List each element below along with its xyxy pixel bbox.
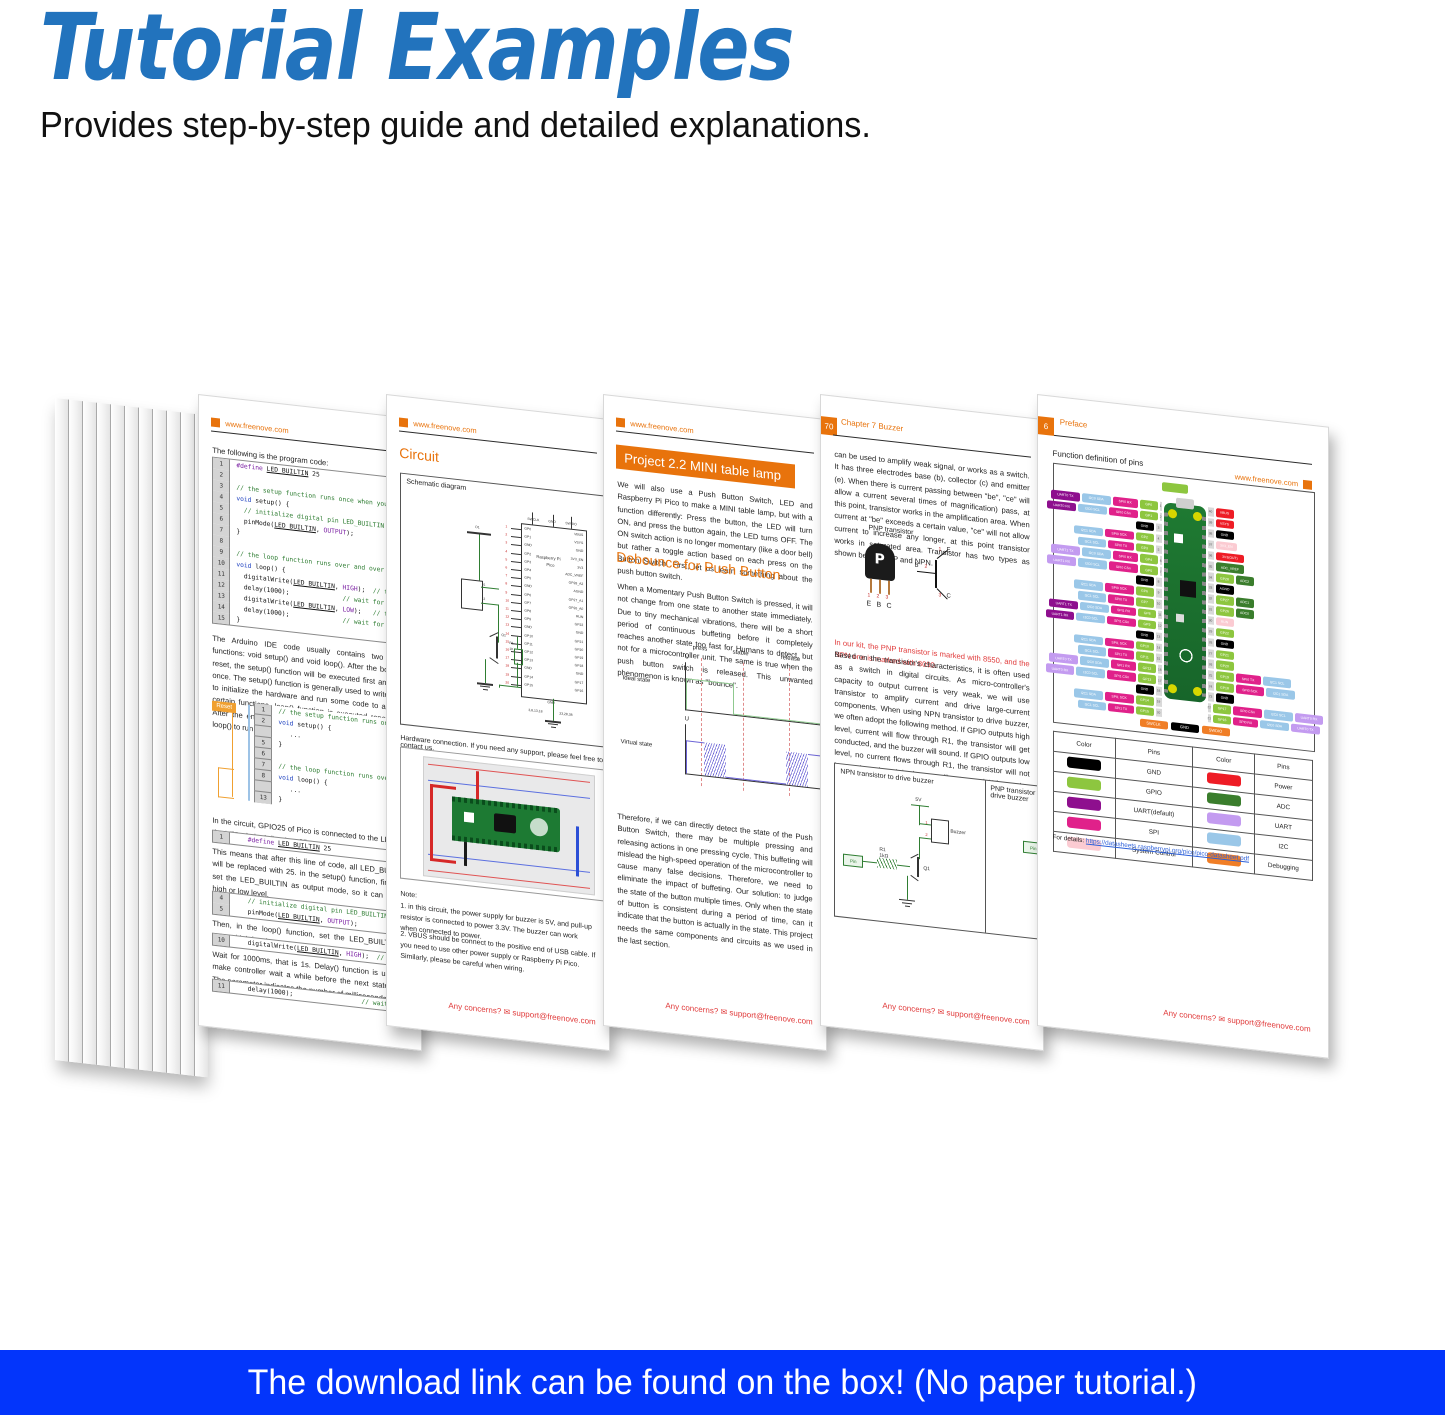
pin-tag: UART0 RX xyxy=(1295,713,1324,725)
chip-pin-number: 11 xyxy=(505,606,509,610)
note-title: Note: xyxy=(400,889,417,902)
pin-tag: I2C0 SCL xyxy=(1264,709,1293,721)
color-swatch xyxy=(1067,796,1101,811)
pin-tag: I2C1 SDA xyxy=(1074,634,1103,646)
chip-pin-number: 2 xyxy=(505,533,507,537)
pin-tag: UART0 TX xyxy=(1291,723,1320,735)
pin-tag: I2C1 SCL xyxy=(1263,677,1292,689)
pin-tag: I2C1 SCL xyxy=(1078,591,1107,603)
pin-tag: GND xyxy=(1216,693,1234,704)
pin-index: 12 xyxy=(1158,621,1162,630)
chip-pin-label: GND xyxy=(524,584,532,589)
pin-tag: SPI0 RX xyxy=(1113,551,1138,562)
chip-pin-number: 5 xyxy=(505,557,507,561)
pin-tag: GND xyxy=(1136,575,1154,586)
pin-index: 33 xyxy=(1208,583,1214,592)
chip-pin-number: 12 xyxy=(505,615,509,619)
pin-tag: GP3 xyxy=(1136,543,1154,554)
chart-label-release: release xyxy=(781,655,801,663)
chip-pin-number: 7 xyxy=(505,574,507,578)
pin-index: 30 xyxy=(1208,616,1214,625)
chip-pin-label: GP7 xyxy=(524,600,531,605)
chip-pin-label: GP11 xyxy=(524,641,532,646)
chip-pin-number: 6 xyxy=(505,565,507,569)
pin-tag: I2C1 SCL xyxy=(1078,699,1107,711)
pin-tag: I2C0 SDA xyxy=(1080,602,1109,614)
chip-pin-number: 20 xyxy=(505,680,509,684)
pin-tag: UART0 TX xyxy=(1049,653,1078,665)
color-swatch xyxy=(1207,772,1241,787)
schematic-caption: Schematic diagram xyxy=(406,478,466,492)
chip-pin-number: 9 xyxy=(505,590,507,594)
pin-tag: SPI0 CSn xyxy=(1109,561,1138,573)
pin-tag: I2C0 SDA xyxy=(1080,656,1109,668)
pin-tag: GP7 xyxy=(1136,597,1154,608)
pin-index: 8 xyxy=(1156,578,1162,587)
chip-pin-stub xyxy=(511,585,521,587)
pinout-left-labels: UART0 TXI2C0 SDASPI0 RXGP01UART0 RXI2C0 … xyxy=(1058,490,1162,719)
pin-index: 25 xyxy=(1208,670,1214,679)
pin-tag: SPI0 SCK xyxy=(1236,685,1265,697)
pin-tag: UART1 RX xyxy=(1046,609,1075,621)
project-intro: We will also use a Push Button Switch, L… xyxy=(617,479,812,599)
pin-tag: SPI0 CSn xyxy=(1233,706,1262,718)
pin-tag: SPI1 SCK xyxy=(1105,692,1134,704)
chip-pin-label: GP12 xyxy=(524,650,533,655)
chip-pin-number: 19 xyxy=(505,672,509,676)
chip-pin-label: GP0 xyxy=(524,527,531,532)
pin-tag: RUN xyxy=(1216,617,1234,628)
debounce-conclusion: Therefore, if we can directly detect the… xyxy=(617,811,812,968)
debug-tag-swdio-bottom: SWDIO xyxy=(1202,725,1230,737)
pin-tag: SPI0 CSn xyxy=(1109,507,1138,519)
flow-diagram: Reset 1// the setup function runs once w… xyxy=(212,697,407,827)
pin-tag: SPI0 TX xyxy=(1236,674,1261,685)
pin-tag: I2C0 SCL xyxy=(1078,504,1107,516)
pin-tag: GND xyxy=(1136,521,1154,532)
page-header: www.freenove.com xyxy=(399,412,597,452)
pin-tag: GP0 xyxy=(1140,500,1158,511)
transistor-label: Q1 xyxy=(923,866,930,873)
pin-tag: UART1 TX xyxy=(1051,544,1080,556)
chart-label-stable: stable xyxy=(733,650,749,658)
debounce-waveform-chart: press stable release U Ideal state U Vir… xyxy=(671,643,818,809)
pin-tag: SPI1 RX xyxy=(1111,605,1136,616)
buzzer-circuit-table: NPN transistor to drive buzzer PNP trans… xyxy=(834,763,1044,942)
pin-tag: I2C1 SCL xyxy=(1078,536,1107,548)
pin-index: 7 xyxy=(1160,567,1162,576)
pin-tag: GP28 xyxy=(1216,573,1234,584)
pin-tag: SPI1 CSn xyxy=(1107,616,1136,628)
color-swatch xyxy=(1067,776,1101,791)
pin-index: 1 xyxy=(1160,502,1162,511)
chip-pin-label: GP4 xyxy=(524,568,531,573)
chip-pin-stub xyxy=(511,626,521,628)
pin-index: 28 xyxy=(1208,638,1214,647)
pin-index: 10 xyxy=(1156,599,1162,608)
pin-tag: GP2 xyxy=(1136,532,1154,543)
pin-index: 20 xyxy=(1156,708,1162,717)
pico-board-illustration xyxy=(1164,502,1206,703)
pin-tag: GP5 xyxy=(1140,565,1158,576)
transistor-figure: PNP transistor P 1 2 3 E B C 1 E B 2 3 C xyxy=(857,523,1017,651)
debug-tag-swclk-bottom: SWCLK xyxy=(1140,718,1168,730)
page-header: www.freenove.com xyxy=(211,412,409,452)
color-swatch xyxy=(1207,792,1241,807)
header-section: Tutorial Examples Provides step-by-step … xyxy=(0,0,1445,180)
pin-tag: UART0 RX xyxy=(1046,663,1075,675)
chip-pin-number: 8 xyxy=(505,582,507,586)
pin-index: 40 xyxy=(1208,507,1214,516)
chip-pin-label: GP13 xyxy=(524,658,533,663)
color-swatch xyxy=(1067,756,1101,771)
pin-tag: SPI0 SCK xyxy=(1105,528,1134,540)
breadboard xyxy=(423,756,595,895)
chip-pin-label: GP15 xyxy=(524,682,533,687)
pin-tag: I2C1 SDA xyxy=(1074,525,1103,537)
pin-index: 26 xyxy=(1208,660,1214,669)
pin-tag: UART0 RX xyxy=(1047,500,1076,512)
pin-tag: GP6 xyxy=(1136,586,1154,597)
chip-pin-label: GP9 xyxy=(524,617,531,622)
pin-tag: I2C0 SCL xyxy=(1078,558,1107,570)
pin-tag: I2C1 SDA xyxy=(1074,579,1103,591)
chip-pin-label: GP5 xyxy=(524,576,531,581)
chapter-label: Chapter 7 Buzzer xyxy=(841,417,903,433)
page-footer: Any concerns? ✉ support@freenove.com xyxy=(1163,1008,1310,1034)
pin-tag: GP18 xyxy=(1216,682,1234,693)
pin-tag: GP9 xyxy=(1138,619,1156,630)
chip-pin-number: 18 xyxy=(505,664,509,668)
chip-pin-label: GP1 xyxy=(524,535,531,540)
pin-index: 4 xyxy=(1156,534,1162,543)
chip-pin-label: GP14 xyxy=(524,674,533,679)
debug-tag-swclk xyxy=(1162,482,1188,493)
chip-pin-label: GND xyxy=(524,666,532,671)
tutorial-page-project[interactable]: www.freenove.com Project 2.2 MINI table … xyxy=(603,394,827,1051)
pin-tag: SPI0 TX xyxy=(1108,594,1133,605)
pin-index: 19 xyxy=(1156,697,1162,706)
pin-tag: ADC1 xyxy=(1236,597,1254,608)
pin-tag: AGND xyxy=(1216,584,1234,595)
pin-tag: GP20 xyxy=(1216,660,1234,671)
axis-label-u-ideal: U xyxy=(685,654,689,660)
pin-tag: UART1 TX xyxy=(1049,598,1078,610)
pin-index: 36 xyxy=(1208,551,1214,560)
chip-pin-label: GP3 xyxy=(524,559,531,564)
pico-board-photo xyxy=(452,796,560,852)
pin-index: 39 xyxy=(1208,518,1214,527)
pin-tag: SPI0 TX xyxy=(1108,540,1133,551)
chip-pin-label: GND xyxy=(524,625,532,630)
page-footer: Any concerns? ✉ support@freenove.com xyxy=(448,1001,595,1027)
pin-tag: SPI0 SCK xyxy=(1105,583,1134,595)
pin-tag: I2C1 SCL xyxy=(1078,645,1107,657)
breadboard-photo-frame xyxy=(400,747,610,904)
chip-pin-label: GP6 xyxy=(524,592,531,597)
pin-index: 23 xyxy=(1208,692,1214,701)
pin-tag: SPI1 TX xyxy=(1108,648,1133,659)
tutorial-page-preface[interactable]: 6 Preface Function definition of pins ww… xyxy=(1037,394,1329,1059)
pin-tag: I2C0 SDA xyxy=(1082,547,1111,559)
pin-index: 2 xyxy=(1160,513,1162,522)
button-symbol xyxy=(461,578,483,610)
pin-index: 3 xyxy=(1156,523,1162,532)
flow-arrow-loop xyxy=(218,767,234,799)
chip-pin-number: 1 xyxy=(505,524,507,528)
pin-tag: UART1 RX xyxy=(1047,555,1076,567)
pin-tag: SPI1 SCK xyxy=(1105,637,1134,649)
pin-tag: GP16 xyxy=(1213,715,1231,726)
pin-terminal-npn: Pin xyxy=(843,854,863,868)
pin-label-b: B xyxy=(877,601,882,609)
pin-tag: GP14 xyxy=(1136,695,1154,706)
pin-tag: GP19 xyxy=(1216,671,1234,682)
chip-pin-label: GP8 xyxy=(524,609,531,614)
flow-spine xyxy=(248,705,250,801)
chart-label-press: press xyxy=(693,645,708,653)
page-number-badge: 6 xyxy=(1038,417,1054,437)
chip-pin-stub xyxy=(511,536,521,538)
pin-index: 27 xyxy=(1208,649,1214,658)
chip-pin-number: 4 xyxy=(505,549,507,553)
pin-index: 16 xyxy=(1158,665,1162,674)
pin-tag: ADC2 xyxy=(1236,576,1254,587)
tutorial-page-buzzer[interactable]: 70 Chapter 7 Buzzer can be used to ampli… xyxy=(820,394,1044,1051)
pin-tag: GP11 xyxy=(1136,652,1154,663)
chip-pin-stub xyxy=(511,553,521,555)
chip-pin-number: 10 xyxy=(505,598,509,602)
pin-tag: 3V3(OUT) xyxy=(1216,552,1245,564)
pin-tag: 3V3_EN xyxy=(1216,541,1238,552)
page-title: Tutorial Examples xyxy=(40,0,793,101)
pin-tag: I2C1 SDA xyxy=(1266,688,1295,700)
pin-tag: GP12 xyxy=(1138,663,1156,674)
freenove-logo-icon xyxy=(399,417,408,427)
pin-index: 9 xyxy=(1156,588,1162,597)
pin-tag: UART0 TX xyxy=(1051,490,1080,502)
pin-tag: ADC_VREF xyxy=(1216,562,1245,574)
debug-tag-gnd-bottom: GND xyxy=(1171,721,1199,733)
pin-tag: I2C0 SCL xyxy=(1076,612,1105,624)
pin-index: 38 xyxy=(1208,529,1214,538)
chip-pin-number: 13 xyxy=(505,623,509,627)
pin-tag: GP8 xyxy=(1138,608,1156,619)
buzzer-label: Buzzer xyxy=(950,829,966,837)
pin-tag: I2C0 SDA xyxy=(1260,720,1289,732)
download-banner-text: The download link can be found on the bo… xyxy=(248,1363,1197,1403)
supply-label: 5V xyxy=(915,797,921,804)
pin-tag: GND xyxy=(1216,639,1234,650)
pin-tag: GP22 xyxy=(1216,628,1234,639)
page-footer: Any concerns? ✉ support@freenove.com xyxy=(882,1001,1029,1027)
chip-pin-number: 3 xyxy=(505,541,507,545)
pin-label-e: E xyxy=(867,600,872,608)
chip-pin-stub xyxy=(511,667,521,669)
download-banner: The download link can be found on the bo… xyxy=(0,1350,1445,1415)
pin-index: 37 xyxy=(1208,540,1214,549)
pin-tag: GND xyxy=(1216,530,1234,541)
schematic-frame: Schematic diagram Raspberry Pi Pico 1GP0… xyxy=(400,473,610,750)
pin-index: 5 xyxy=(1156,545,1162,554)
tutorial-page-circuit[interactable]: www.freenove.com Circuit Schematic diagr… xyxy=(386,394,610,1051)
chip-pin-stub xyxy=(511,569,521,571)
pin-tag: SPI1 TX xyxy=(1108,703,1133,714)
transistor-package-icon: P xyxy=(865,542,895,581)
circuit-heading: Circuit xyxy=(399,444,439,464)
pin-index: 31 xyxy=(1208,605,1214,614)
color-swatch xyxy=(1207,832,1241,847)
pin-index: 22 xyxy=(1208,703,1212,712)
pin-index: 15 xyxy=(1156,654,1162,663)
debug-tag-group xyxy=(1162,482,1188,493)
pinout-right-labels: 40VBUS39VSYS38GND373V3_EN363V3(OUT)35ADC… xyxy=(1208,507,1312,736)
buzzer-symbol xyxy=(931,818,949,844)
pin-index: 21 xyxy=(1208,714,1212,723)
pin-tag: SPI0 RX xyxy=(1113,496,1138,507)
pin-tag: GP13 xyxy=(1138,674,1156,685)
page-header: www.freenove.com xyxy=(616,412,814,452)
chip-pin-stub xyxy=(511,635,521,637)
pin-tag: GP1 xyxy=(1140,510,1158,521)
pin-tag: I2C1 SDA xyxy=(1074,688,1103,700)
chip-pin-stub xyxy=(511,561,521,563)
pin-index: 13 xyxy=(1156,632,1162,641)
pin-tag: GP21 xyxy=(1216,650,1234,661)
tutorial-book-stack: www.freenove.com The following is the pr… xyxy=(0,330,1445,1130)
chip-pin-stub xyxy=(511,577,521,579)
pinout-diagram-frame: UART0 TXI2C0 SDASPI0 RXGP01UART0 RXI2C0 … xyxy=(1053,463,1315,752)
pin-tag: GND xyxy=(1136,684,1154,695)
pin-tag: VBUS xyxy=(1216,508,1234,519)
chip-pin-label: GP2 xyxy=(524,551,531,556)
pin-index: 35 xyxy=(1208,562,1214,571)
pin-index: 14 xyxy=(1156,643,1162,652)
page-stack xyxy=(55,398,205,1077)
chip-pin-stub xyxy=(511,544,521,546)
pin-color-legend-table: Color Pins Color Pins GNDPowerGPIOADCUAR… xyxy=(1053,731,1313,881)
pin-tag: GP27 xyxy=(1216,595,1234,606)
chip-pin-number: 17 xyxy=(505,656,509,660)
freenove-logo-icon xyxy=(616,417,625,427)
pin-tag: ADC0 xyxy=(1236,608,1254,619)
pin-tag: I2C0 SCL xyxy=(1076,667,1105,679)
page-subtitle: Provides step-by-step guide and detailed… xyxy=(40,104,871,146)
axis-label-u-virtual: U xyxy=(685,716,689,722)
chip-pin-stub xyxy=(511,676,521,678)
chip-pin-stub xyxy=(511,610,521,612)
pin-tag: GP15 xyxy=(1136,706,1154,717)
chip-pin-stub xyxy=(511,594,521,596)
color-swatch xyxy=(1067,816,1101,831)
pin-index: 18 xyxy=(1156,686,1162,695)
pin-tag: SPI0 RX xyxy=(1233,717,1258,728)
chip-pin-stub xyxy=(511,618,521,620)
pin-index: 29 xyxy=(1208,627,1214,636)
pin-tag: GP26 xyxy=(1216,606,1234,617)
chip-name-label: Raspberry Pi xyxy=(536,554,560,562)
pin-index: 6 xyxy=(1160,556,1162,565)
pin-label-c: C xyxy=(887,602,892,610)
page-number-badge: 70 xyxy=(821,417,837,437)
chip-pin-stub xyxy=(511,602,521,604)
pin-tag: GND xyxy=(1136,630,1154,641)
pin-index: 32 xyxy=(1208,594,1214,603)
freenove-logo-icon xyxy=(211,417,220,427)
pin-index: 24 xyxy=(1208,681,1214,690)
chip-pin-label: GND xyxy=(524,543,532,548)
series-label-virtual: Virtual state xyxy=(621,739,653,749)
color-swatch xyxy=(1207,812,1241,827)
pin-tag: SPI1 RX xyxy=(1111,660,1136,671)
pin-index: 11 xyxy=(1158,610,1161,619)
pin-tag: I2C0 SDA xyxy=(1082,493,1111,505)
pin-tag: GP10 xyxy=(1136,641,1154,652)
chapter-label: Preface xyxy=(1060,418,1088,430)
pnp-circuit-title: PNP transistor to drive buzzer xyxy=(990,785,1044,806)
pin-tag: VSYS xyxy=(1216,519,1234,530)
chip-pin-stub xyxy=(511,528,521,530)
pin-tag: GP4 xyxy=(1140,554,1158,565)
pin-tag: SPI1 CSn xyxy=(1107,670,1136,682)
pin-index: 34 xyxy=(1208,572,1214,581)
freenove-logo-icon xyxy=(1303,479,1312,489)
pin-index: 17 xyxy=(1158,676,1162,685)
chip-pin-label: GP10 xyxy=(524,633,533,638)
pin-tag: GP17 xyxy=(1213,704,1231,715)
page-footer: Any concerns? ✉ support@freenove.com xyxy=(665,1001,812,1027)
